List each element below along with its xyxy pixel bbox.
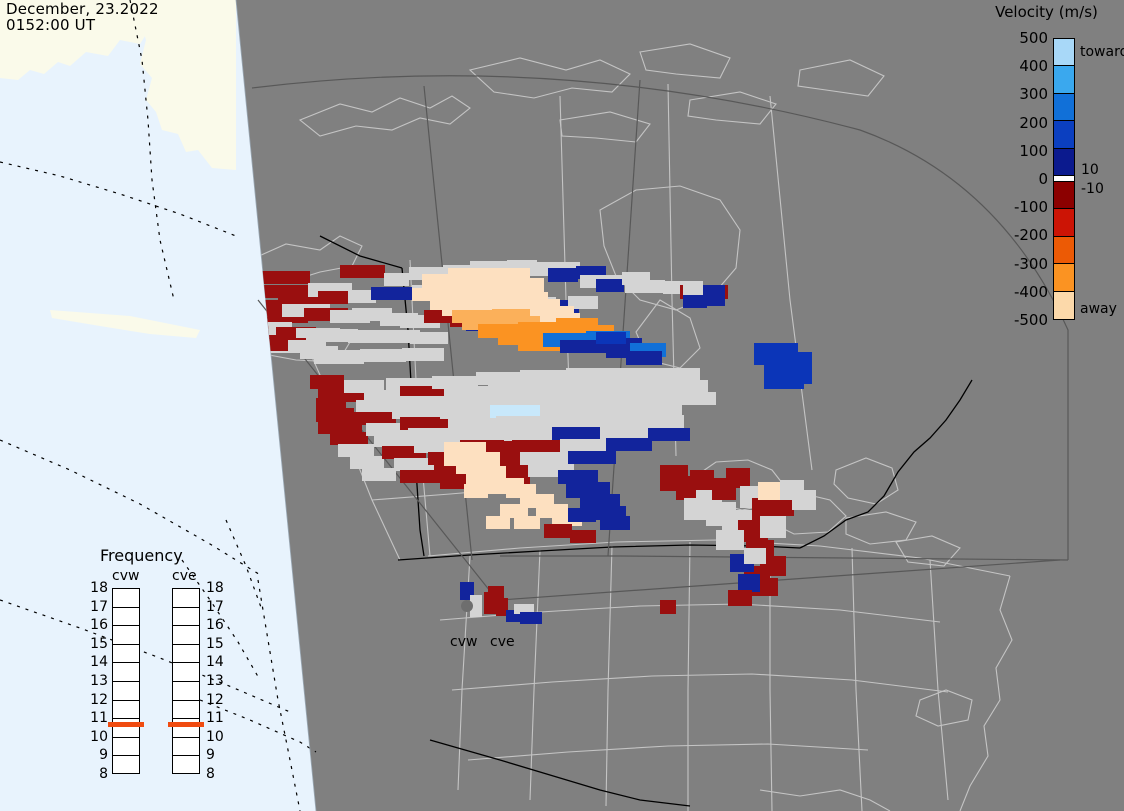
frequency-segment bbox=[113, 626, 139, 645]
velocity-inner-negative-label: -10 bbox=[1081, 182, 1104, 196]
velocity-band--200 bbox=[1054, 209, 1074, 236]
velocity-cell bbox=[496, 416, 548, 429]
frequency-tick-right-14: 14 bbox=[206, 656, 228, 669]
velocity-cell bbox=[504, 428, 554, 441]
velocity-cell bbox=[606, 438, 652, 451]
velocity-cell bbox=[410, 332, 448, 344]
radar-site-dot bbox=[461, 600, 473, 612]
velocity-cell bbox=[568, 508, 596, 522]
velocity-cell bbox=[488, 586, 504, 598]
radar-site-label-cvw: cvw bbox=[450, 634, 477, 650]
velocity-cell bbox=[690, 470, 714, 492]
velocity-cell bbox=[590, 402, 640, 415]
velocity-cell bbox=[350, 456, 384, 469]
frequency-segment bbox=[113, 756, 139, 775]
velocity-tick--300: -300 bbox=[1000, 257, 1048, 271]
velocity-cell bbox=[520, 452, 568, 465]
velocity-tick-400: 400 bbox=[1000, 59, 1048, 73]
frequency-segment bbox=[173, 626, 199, 645]
velocity-cell bbox=[360, 349, 406, 362]
velocity-cell bbox=[744, 548, 766, 564]
velocity-cell bbox=[596, 279, 624, 292]
frequency-marker-cve bbox=[168, 722, 204, 727]
velocity-cell bbox=[340, 265, 385, 278]
frequency-legend: Frequency cvw cve 1818171716161515141413… bbox=[92, 546, 242, 786]
velocity-cell bbox=[596, 332, 626, 344]
velocity-band-400 bbox=[1054, 66, 1074, 93]
velocity-tick--100: -100 bbox=[1000, 200, 1048, 214]
velocity-cell bbox=[316, 408, 354, 422]
velocity-away-label: away bbox=[1080, 302, 1117, 316]
velocity-cell bbox=[402, 348, 444, 361]
velocity-tick-100: 100 bbox=[1000, 144, 1048, 158]
velocity-band-500 bbox=[1054, 39, 1074, 66]
velocity-band--100 bbox=[1054, 182, 1074, 209]
frequency-tick-right-8: 8 bbox=[206, 768, 228, 781]
frequency-tick-left-9: 9 bbox=[86, 749, 108, 762]
frequency-bar-cvw bbox=[112, 588, 140, 774]
velocity-band--400 bbox=[1054, 264, 1074, 291]
velocity-cell bbox=[310, 375, 344, 389]
frequency-segment bbox=[173, 645, 199, 664]
velocity-cell bbox=[638, 403, 682, 416]
velocity-tick-500: 500 bbox=[1000, 31, 1048, 45]
velocity-cell bbox=[668, 380, 708, 393]
velocity-cell bbox=[728, 590, 752, 606]
velocity-cell bbox=[570, 530, 596, 543]
velocity-cell bbox=[552, 427, 602, 440]
frequency-legend-title: Frequency bbox=[100, 546, 183, 565]
frequency-segment bbox=[173, 738, 199, 757]
velocity-band-200 bbox=[1054, 121, 1074, 148]
frequency-bar-cve bbox=[172, 588, 200, 774]
frequency-tick-left-10: 10 bbox=[86, 731, 108, 744]
velocity-cell bbox=[758, 482, 780, 500]
velocity-cell bbox=[716, 530, 744, 550]
velocity-cell bbox=[684, 498, 706, 520]
velocity-cell bbox=[600, 516, 630, 530]
velocity-tick--400: -400 bbox=[1000, 285, 1048, 299]
velocity-toward-label: toward bbox=[1080, 45, 1124, 59]
velocity-cell bbox=[676, 392, 716, 405]
velocity-cell bbox=[658, 368, 700, 381]
frequency-segment bbox=[173, 756, 199, 775]
frequency-segment bbox=[113, 682, 139, 701]
velocity-cell bbox=[764, 365, 804, 389]
timestamp-time: 0152:00 UT bbox=[6, 17, 95, 33]
frequency-segment bbox=[113, 701, 139, 720]
velocity-cell bbox=[362, 468, 396, 481]
velocity-cell bbox=[560, 439, 610, 452]
velocity-cell bbox=[514, 516, 540, 529]
velocity-cell bbox=[486, 516, 510, 529]
velocity-cell bbox=[452, 428, 504, 441]
radar-map-canvas: December, 23.2022 0152:00 UT cvw cve Vel… bbox=[0, 0, 1124, 811]
velocity-cell bbox=[558, 470, 598, 484]
velocity-tick--500: -500 bbox=[1000, 313, 1048, 327]
timestamp-date: December, 23.2022 bbox=[6, 1, 159, 17]
velocity-cell bbox=[318, 291, 348, 304]
velocity-cell bbox=[262, 271, 310, 284]
frequency-segment bbox=[113, 738, 139, 757]
velocity-cell bbox=[760, 516, 786, 538]
frequency-segment bbox=[173, 608, 199, 627]
velocity-cell bbox=[512, 440, 562, 453]
velocity-cell bbox=[738, 574, 760, 592]
frequency-tick-left-8: 8 bbox=[86, 768, 108, 781]
velocity-colorbar-title: Velocity (m/s) bbox=[975, 3, 1118, 21]
velocity-tick-300: 300 bbox=[1000, 87, 1048, 101]
frequency-segment bbox=[113, 589, 139, 608]
velocity-band--500 bbox=[1054, 292, 1074, 319]
velocity-cell bbox=[348, 330, 384, 343]
velocity-cell bbox=[626, 351, 662, 365]
velocity-cell bbox=[544, 524, 572, 538]
frequency-marker-cvw bbox=[108, 722, 144, 727]
velocity-cell bbox=[726, 468, 750, 488]
velocity-cell bbox=[705, 293, 725, 306]
frequency-column-label-cve: cve bbox=[172, 568, 197, 584]
frequency-tick-right-11: 11 bbox=[206, 712, 228, 725]
velocity-cell bbox=[314, 350, 364, 364]
velocity-tick-200: 200 bbox=[1000, 116, 1048, 130]
velocity-cell bbox=[500, 504, 528, 518]
velocity-colorbar-bands bbox=[1053, 38, 1075, 320]
velocity-tick--200: -200 bbox=[1000, 228, 1048, 242]
frequency-segment bbox=[173, 682, 199, 701]
velocity-cell bbox=[464, 484, 488, 498]
frequency-tick-right-15: 15 bbox=[206, 638, 228, 651]
velocity-cell bbox=[330, 432, 368, 445]
velocity-cell bbox=[642, 415, 684, 428]
velocity-tick-0: 0 bbox=[1000, 172, 1048, 186]
velocity-cell bbox=[648, 428, 690, 441]
velocity-cell bbox=[683, 295, 707, 308]
frequency-segment bbox=[173, 701, 199, 720]
velocity-cell bbox=[540, 392, 590, 405]
frequency-tick-right-12: 12 bbox=[206, 694, 228, 707]
frequency-tick-right-18: 18 bbox=[206, 582, 228, 595]
velocity-cell bbox=[596, 414, 644, 427]
velocity-band--300 bbox=[1054, 237, 1074, 264]
frequency-tick-right-16: 16 bbox=[206, 619, 228, 632]
velocity-cell bbox=[568, 451, 616, 464]
velocity-cell bbox=[384, 273, 409, 286]
frequency-segment bbox=[173, 663, 199, 682]
frequency-tick-right-13: 13 bbox=[206, 675, 228, 688]
radar-site-label-cve: cve bbox=[490, 634, 515, 650]
velocity-cell bbox=[338, 444, 374, 457]
frequency-tick-right-9: 9 bbox=[206, 749, 228, 762]
velocity-cell bbox=[546, 415, 598, 428]
frequency-tick-left-11: 11 bbox=[86, 712, 108, 725]
velocity-cell bbox=[548, 268, 578, 282]
velocity-inner-positive-label: 10 bbox=[1081, 163, 1099, 177]
velocity-band-100 bbox=[1054, 149, 1074, 176]
frequency-segment bbox=[113, 663, 139, 682]
velocity-cell bbox=[600, 426, 648, 439]
frequency-tick-right-17: 17 bbox=[206, 601, 228, 614]
velocity-cell bbox=[520, 612, 542, 624]
frequency-segment bbox=[173, 589, 199, 608]
velocity-cell bbox=[625, 280, 665, 293]
velocity-cell bbox=[371, 287, 413, 300]
velocity-cell bbox=[580, 494, 620, 508]
velocity-cell bbox=[792, 490, 816, 510]
velocity-band-300 bbox=[1054, 94, 1074, 121]
frequency-tick-left-12: 12 bbox=[86, 694, 108, 707]
frequency-segment bbox=[113, 645, 139, 664]
frequency-tick-left-16: 16 bbox=[86, 619, 108, 632]
frequency-segment bbox=[113, 608, 139, 627]
frequency-tick-right-10: 10 bbox=[206, 731, 228, 744]
velocity-cell bbox=[660, 600, 676, 614]
velocity-cell bbox=[408, 428, 454, 441]
frequency-tick-left-18: 18 bbox=[86, 582, 108, 595]
frequency-tick-left-17: 17 bbox=[86, 601, 108, 614]
frequency-column-label-cvw: cvw bbox=[112, 568, 139, 584]
frequency-tick-left-15: 15 bbox=[86, 638, 108, 651]
frequency-tick-left-13: 13 bbox=[86, 675, 108, 688]
frequency-tick-left-14: 14 bbox=[86, 656, 108, 669]
